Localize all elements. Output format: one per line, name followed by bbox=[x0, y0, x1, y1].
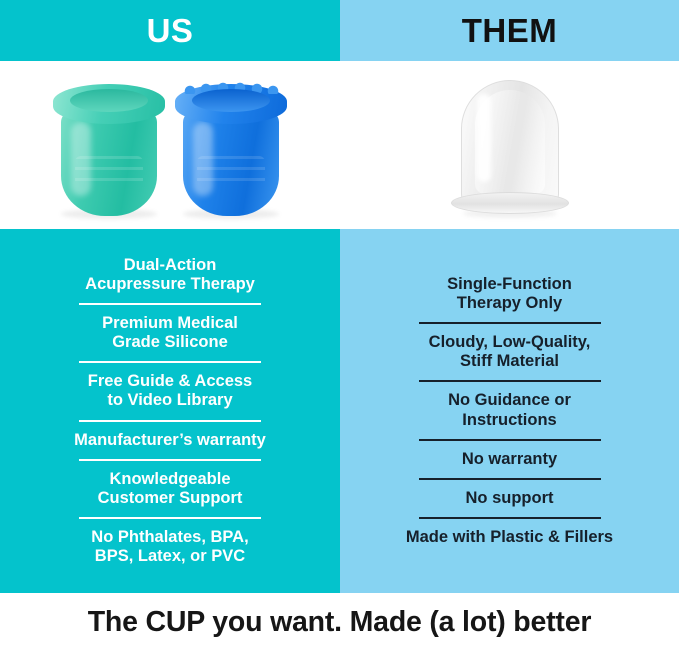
feature-separator bbox=[419, 439, 601, 441]
comparison-infographic: US THEM bbox=[0, 0, 679, 652]
feature-line: Customer Support bbox=[18, 489, 322, 508]
cup-highlight bbox=[193, 122, 213, 196]
footer-tagline: The CUP you want. Made (a lot) better bbox=[88, 606, 592, 639]
feature-item: No Phthalates, BPA, BPS, Latex, or PVC bbox=[18, 525, 322, 569]
product-image-band bbox=[0, 61, 679, 229]
header-title-us: US bbox=[147, 14, 194, 47]
cup-rim bbox=[451, 192, 569, 214]
feature-line: No Phthalates, BPA, bbox=[18, 528, 322, 547]
features-band: Dual-Action Acupressure Therapy Premium … bbox=[0, 229, 679, 593]
feature-line: No support bbox=[358, 489, 661, 508]
feature-item: Knowledgeable Customer Support bbox=[18, 467, 322, 511]
feature-separator bbox=[79, 361, 261, 363]
feature-item: Free Guide & Access to Video Library bbox=[18, 369, 322, 413]
feature-item: Dual-Action Acupressure Therapy bbox=[18, 253, 322, 297]
feature-line: Cloudy, Low-Quality, bbox=[358, 333, 661, 352]
features-column-them: Single-Function Therapy Only Cloudy, Low… bbox=[340, 229, 679, 593]
header-cell-them: THEM bbox=[340, 0, 679, 61]
feature-line: Made with Plastic & Fillers bbox=[358, 528, 661, 547]
feature-item: Manufacturer’s warranty bbox=[18, 428, 322, 453]
feature-line: Stiff Material bbox=[358, 352, 661, 371]
header-cell-us: US bbox=[0, 0, 340, 61]
feature-separator bbox=[79, 459, 261, 461]
feature-item: Made with Plastic & Fillers bbox=[358, 525, 661, 550]
feature-separator bbox=[419, 517, 601, 519]
feature-item: Single-Function Therapy Only bbox=[358, 272, 661, 316]
feature-line: Premium Medical bbox=[18, 314, 322, 333]
feature-line: Instructions bbox=[358, 411, 661, 430]
teal-silicone-cup-image bbox=[53, 82, 165, 216]
blue-silicone-cup-image bbox=[175, 82, 287, 216]
cup-mouth-opening bbox=[192, 89, 270, 112]
feature-line: No Guidance or bbox=[358, 391, 661, 410]
feature-item: No Guidance or Instructions bbox=[358, 388, 661, 432]
product-cell-them bbox=[340, 61, 679, 229]
feature-separator bbox=[79, 420, 261, 422]
header-band: US THEM bbox=[0, 0, 679, 61]
feature-separator bbox=[79, 303, 261, 305]
feature-line: Dual-Action bbox=[18, 256, 322, 275]
feature-separator bbox=[419, 322, 601, 324]
feature-line: to Video Library bbox=[18, 391, 322, 410]
feature-line: Knowledgeable bbox=[18, 470, 322, 489]
clear-plastic-cup-image bbox=[451, 76, 569, 216]
feature-line: No warranty bbox=[358, 450, 661, 469]
product-cell-us bbox=[0, 61, 340, 229]
feature-item: No warranty bbox=[358, 447, 661, 472]
feature-item: Premium Medical Grade Silicone bbox=[18, 311, 322, 355]
cup-highlight bbox=[477, 94, 491, 182]
feature-line: Therapy Only bbox=[358, 294, 661, 313]
feature-line: Acupressure Therapy bbox=[18, 275, 322, 294]
feature-item: No support bbox=[358, 486, 661, 511]
header-title-them: THEM bbox=[462, 14, 558, 47]
feature-line: BPS, Latex, or PVC bbox=[18, 547, 322, 566]
feature-line: Grade Silicone bbox=[18, 333, 322, 352]
feature-line: Manufacturer’s warranty bbox=[18, 431, 322, 450]
feature-line: Single-Function bbox=[358, 275, 661, 294]
cup-mouth-opening bbox=[70, 89, 148, 112]
feature-separator bbox=[419, 478, 601, 480]
footer-band: The CUP you want. Made (a lot) better bbox=[0, 593, 679, 652]
feature-line: Free Guide & Access bbox=[18, 372, 322, 391]
feature-separator bbox=[419, 380, 601, 382]
features-column-us: Dual-Action Acupressure Therapy Premium … bbox=[0, 229, 340, 593]
feature-item: Cloudy, Low-Quality, Stiff Material bbox=[358, 330, 661, 374]
feature-separator bbox=[79, 517, 261, 519]
cup-highlight bbox=[71, 122, 91, 196]
